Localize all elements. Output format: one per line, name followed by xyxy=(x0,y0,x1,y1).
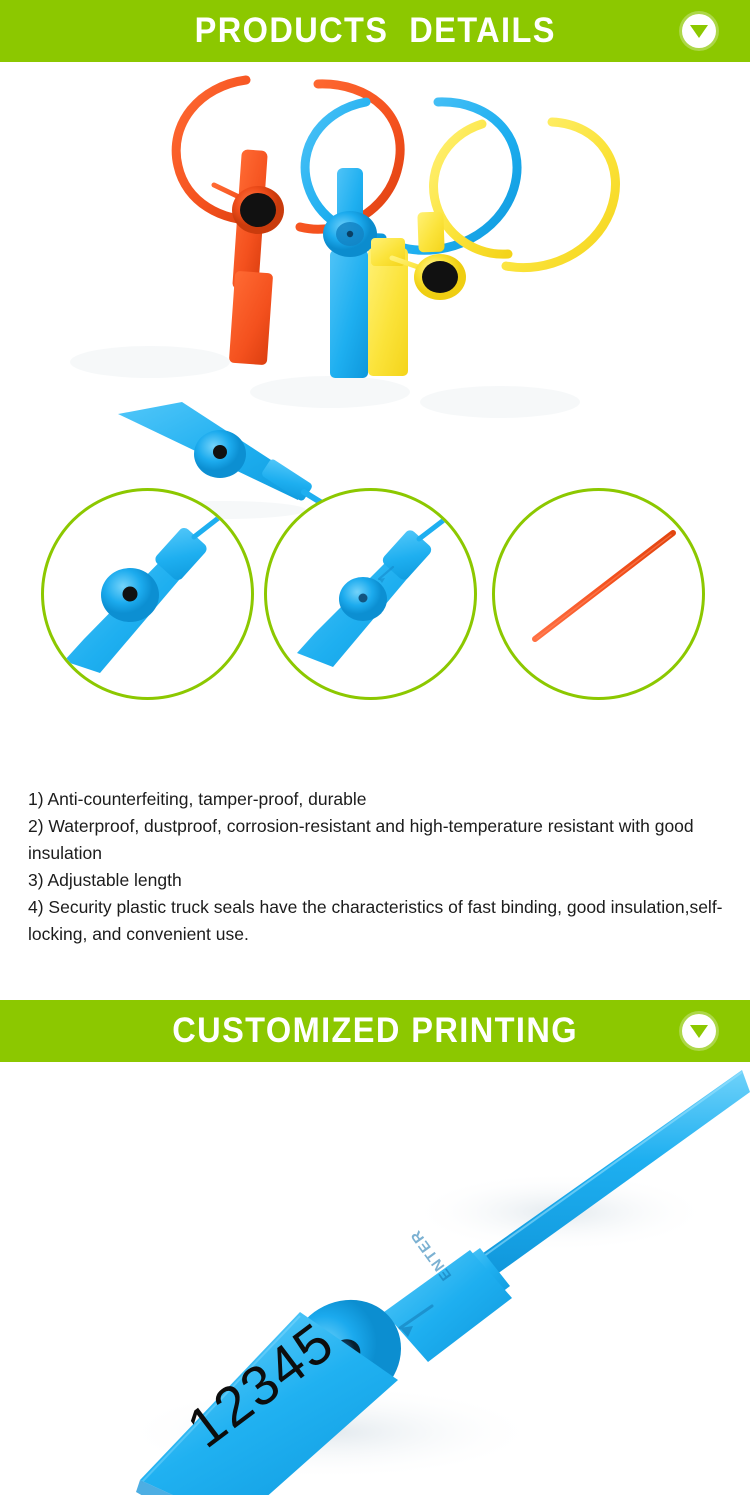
customized-printing-title: CUSTOMIZED PRINTING xyxy=(172,1011,578,1051)
seal-yellow xyxy=(368,122,615,376)
strap-closeup-right-illustration xyxy=(495,491,702,697)
feature-item-3: 3) Adjustable length xyxy=(28,867,728,894)
product-detail-page: PRODUCTS DETAILS xyxy=(0,0,750,1495)
strap-closeup-right-circle xyxy=(492,488,705,700)
products-details-banner: PRODUCTS DETAILS xyxy=(0,0,750,62)
customized-printing-photo: 12345 ENTER xyxy=(0,1062,750,1495)
three-seals-illustration xyxy=(0,62,750,432)
feature-item-2: 2) Waterproof, dustproof, corrosion-resi… xyxy=(28,813,728,867)
seal-closeup-left-illustration xyxy=(44,491,251,697)
customized-printing-banner: CUSTOMIZED PRINTING xyxy=(0,1000,750,1062)
feature-item-4: 4) Security plastic truck seals have the… xyxy=(28,894,728,948)
products-details-title: PRODUCTS DETAILS xyxy=(194,11,555,51)
seal-closeup-middle-circle xyxy=(264,488,477,700)
product-photo-three-seals xyxy=(0,62,750,432)
seal-closeup-middle-illustration xyxy=(267,491,474,697)
chevron-down-circle-icon[interactable] xyxy=(682,14,716,48)
chevron-down-glyph xyxy=(690,25,708,38)
seal-blue xyxy=(305,102,517,378)
features-list: 1) Anti-counterfeiting, tamper-proof, du… xyxy=(28,786,728,948)
detail-circles-row xyxy=(0,488,750,708)
printed-seal-illustration: 12345 ENTER xyxy=(0,1062,750,1495)
seal-closeup-left-circle xyxy=(41,488,254,700)
chevron-down-glyph xyxy=(690,1025,708,1038)
feature-item-1: 1) Anti-counterfeiting, tamper-proof, du… xyxy=(28,786,728,813)
chevron-down-circle-icon[interactable] xyxy=(682,1014,716,1048)
